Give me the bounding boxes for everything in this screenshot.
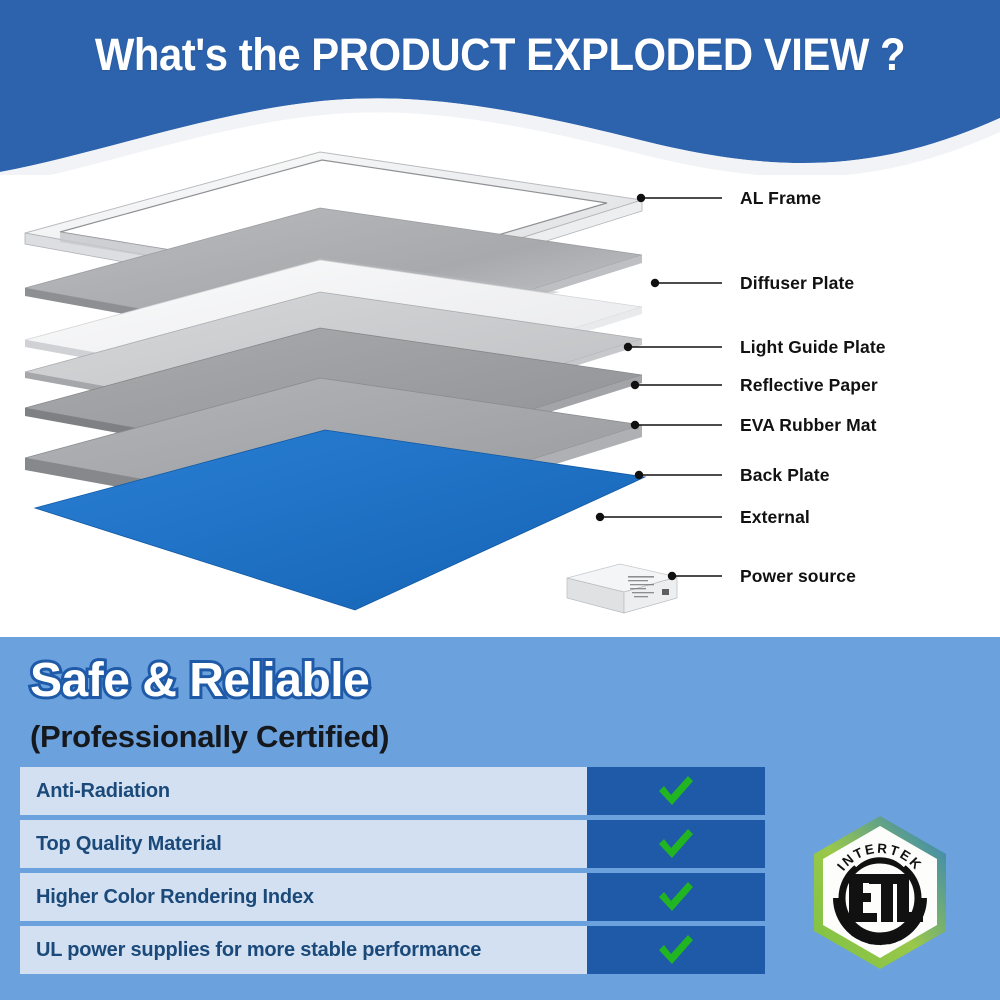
feature-check-cell [587, 820, 765, 868]
table-row: Higher Color Rendering Index [20, 873, 765, 921]
feature-check-cell [587, 767, 765, 815]
feature-table: Anti-Radiation Top Quality Material High… [20, 767, 765, 974]
feature-label: UL power supplies for more stable perfor… [20, 926, 587, 974]
label-back-plate: Back Plate [740, 465, 830, 486]
feature-label: Top Quality Material [20, 820, 587, 868]
feature-check-cell [587, 926, 765, 974]
infographic-page: What's the PRODUCT EXPLODED VIEW ? [0, 0, 1000, 1000]
label-power-source: Power source [740, 566, 856, 587]
label-eva-rubber-mat: EVA Rubber Mat [740, 415, 877, 436]
checkmark-icon [656, 827, 696, 861]
section-title: Safe & Reliable [30, 652, 369, 710]
layer-power-source [567, 564, 677, 613]
safe-reliable-section: Safe & Reliable (Professionally Certifie… [0, 637, 1000, 1000]
table-row: Anti-Radiation [20, 767, 765, 815]
feature-label: Higher Color Rendering Index [20, 873, 587, 921]
section-subtitle: (Professionally Certified) [30, 719, 389, 755]
label-light-guide-plate: Light Guide Plate [740, 337, 886, 358]
label-external: External [740, 507, 810, 528]
label-diffuser-plate: Diffuser Plate [740, 273, 854, 294]
checkmark-icon [656, 774, 696, 808]
etl-listed-badge: INTERTEK LISTED [805, 812, 955, 977]
table-row: UL power supplies for more stable perfor… [20, 926, 765, 974]
feature-label: Anti-Radiation [20, 767, 587, 815]
feature-check-cell [587, 873, 765, 921]
label-al-frame: AL Frame [740, 188, 821, 209]
checkmark-icon [656, 880, 696, 914]
checkmark-icon [656, 933, 696, 967]
table-row: Top Quality Material [20, 820, 765, 868]
page-title: What's the PRODUCT EXPLODED VIEW ? [35, 28, 965, 82]
label-reflective-paper: Reflective Paper [740, 375, 878, 396]
